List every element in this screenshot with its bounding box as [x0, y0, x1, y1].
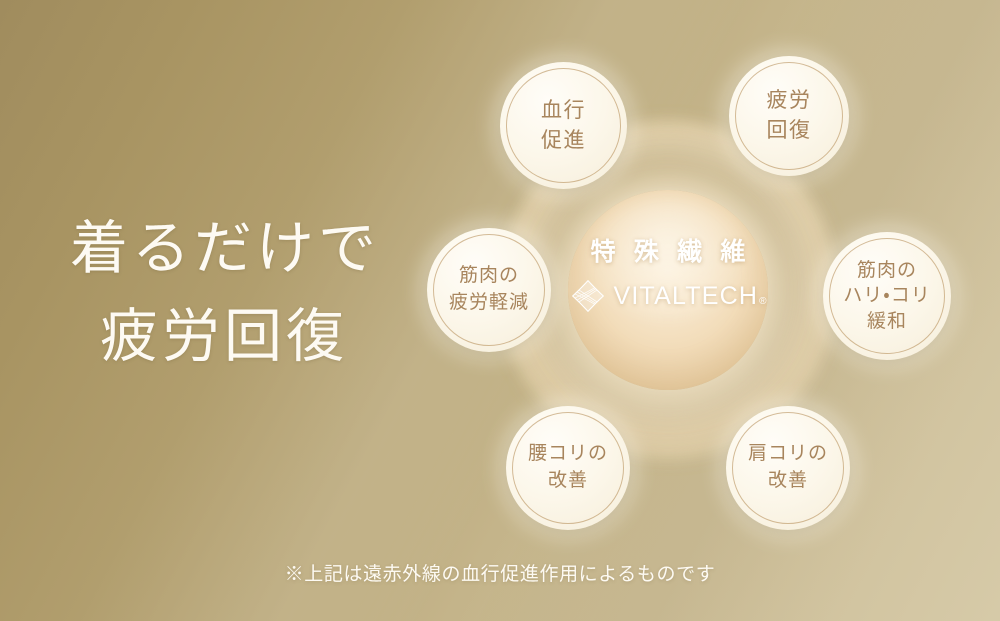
benefit-bubble-muscle-stiffness-relief[interactable]: 筋肉の ハリ・コリ 緩和 [823, 232, 951, 360]
benefit-bubble-lower-back-stiffness[interactable]: 腰コリの 改善 [506, 406, 630, 530]
headline-line-1: 着るだけで [70, 205, 410, 293]
center-content: 特 殊 繊 維 VITALTECH® [548, 240, 788, 313]
vitaltech-diamond-logo-icon [571, 279, 605, 313]
benefit-label: 筋肉の 疲労軽減 [449, 263, 529, 317]
benefit-label: 血行 促進 [541, 96, 586, 156]
brand-lockup: VITALTECH® [548, 279, 788, 313]
promo-banner: 着るだけで 疲労回復 特 殊 繊 維 [0, 0, 1000, 621]
brand-name-text: VITALTECH [614, 282, 759, 310]
benefit-bubble-blood-circulation[interactable]: 血行 促進 [500, 62, 627, 189]
benefit-bubble-muscle-fatigue-relief[interactable]: 筋肉の 疲労軽減 [427, 228, 551, 352]
benefit-label: 疲労 回復 [767, 86, 812, 146]
headline-line-2: 疲労回復 [70, 293, 410, 381]
benefit-bubble-fatigue-recovery[interactable]: 疲労 回復 [729, 56, 849, 176]
benefit-label: 筋肉の ハリ・コリ 緩和 [843, 258, 930, 335]
benefit-bubble-shoulder-stiffness[interactable]: 肩コリの 改善 [726, 406, 850, 530]
brand-name: VITALTECH® [614, 284, 766, 309]
benefit-label: 腰コリの 改善 [528, 441, 608, 495]
benefit-label: 肩コリの 改善 [748, 441, 828, 495]
disclaimer-note: ※上記は遠赤外線の血行促進作用によるものです [0, 559, 1000, 586]
registered-trademark-icon: ® [759, 296, 766, 307]
page-title: 着るだけで 疲労回復 [70, 205, 410, 381]
center-title: 特 殊 繊 維 [548, 240, 788, 265]
